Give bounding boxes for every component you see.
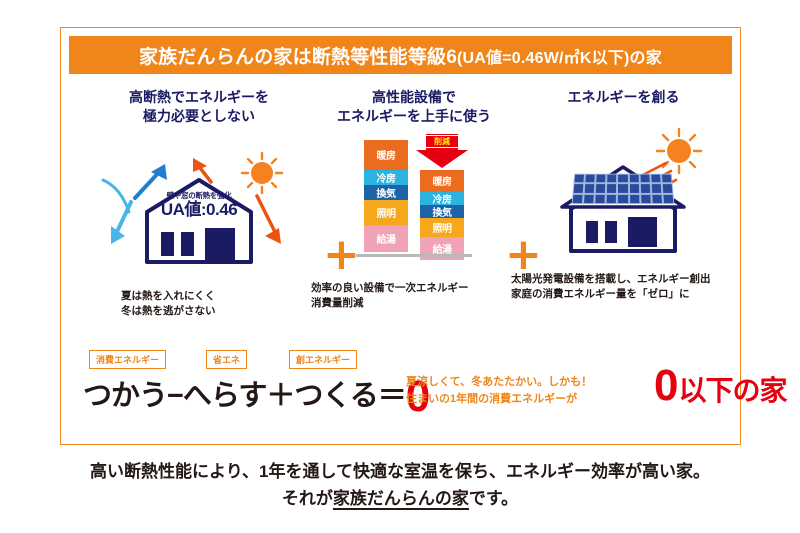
energy-equation: つかう−へらす＋つくる＝0	[83, 372, 429, 419]
equation-row: 消費エネルギー 省エネ 創エネルギー つかう−へらす＋つくる＝0 夏涼しくて、冬…	[61, 350, 742, 420]
header-title-main: 家族だんらんの家は断熱等性能等級6	[139, 47, 457, 68]
segment-ventilation-before: 換気	[364, 185, 408, 200]
segment-cooling-before: 冷房	[364, 170, 408, 185]
infographic-frame: 家族だんらんの家は断熱等性能等級6(UA値=0.46W/㎡K以下)の家 + + …	[60, 27, 741, 445]
reduction-label: 削減	[425, 135, 459, 148]
segment-heating-after: 暖房	[420, 170, 464, 192]
energy-bar-chart: 暖房 冷房 換気 照明 給湯 暖房 冷房 換気 照明 給湯	[334, 132, 494, 267]
tag-saving-energy: 省エネ	[206, 350, 247, 369]
equation-text: つかう−へらす＋つくる＝	[83, 380, 406, 412]
header-title-sub: (UA値=0.46W/㎡K以下)の家	[457, 50, 662, 67]
segment-ventilation-after: 換気	[420, 205, 464, 218]
pillar-insulation: 高断熱でエネルギーを 極力必要としない	[79, 88, 319, 319]
bar-before: 暖房 冷房 換気 照明 給湯	[364, 140, 408, 252]
bar-after: 暖房 冷房 換気 照明 給湯	[420, 170, 464, 260]
energy-bars: 暖房 冷房 換気 照明 給湯 暖房 冷房 換気 照明 給湯	[334, 132, 494, 267]
solar-house-illustration	[516, 123, 731, 258]
pillar-efficiency: 高性能設備で エネルギーを上手に使う 暖房 冷房 換気 照明 給湯 暖房	[319, 88, 509, 311]
header-banner: 家族だんらんの家は断熱等性能等級6(UA値=0.46W/㎡K以下)の家	[69, 36, 732, 74]
bottom-line2-pre: それが	[282, 489, 333, 508]
zero-big-number: 0	[654, 361, 678, 410]
insulated-house-illustration: 壁や窓の断熱を強化 UA値:0.46	[99, 140, 299, 275]
pillar-generation: エネルギーを創る	[511, 88, 736, 302]
segment-lighting-before: 照明	[364, 200, 408, 225]
segment-lighting-after: 照明	[420, 218, 464, 237]
tag-created-energy: 創エネルギー	[289, 350, 357, 369]
zero-suffix: 以下の家	[678, 375, 786, 406]
bottom-line-1: 高い断熱性能により、1年を通して快適な室温を保ち、エネルギー効率が高い家。	[0, 458, 800, 485]
bottom-line2-post: です。	[469, 489, 518, 508]
baseline	[356, 254, 472, 257]
reduction-arrow: 削減	[416, 134, 468, 168]
segment-heating-before: 暖房	[364, 140, 408, 170]
pillar-insulation-caption: 夏は熱を入れにくく 冬は熱を逃がさない	[121, 289, 319, 319]
header-title: 家族だんらんの家は断熱等性能等級6(UA値=0.46W/㎡K以下)の家	[139, 42, 662, 69]
tag-consumed-energy: 消費エネルギー	[89, 350, 166, 369]
house-label-ua: UA値:0.46	[99, 201, 299, 219]
sun-icon	[242, 153, 282, 193]
zero-or-less-house: 0以下の家	[654, 364, 787, 408]
bottom-line-2: それが家族だんらんの家です。	[0, 485, 800, 512]
solar-panel-grid	[572, 174, 675, 204]
equation-note: 夏涼しくて、冬あたたかい。しかも！ 住まいの1年間の消費エネルギーが	[406, 374, 592, 407]
pillar-insulation-heading: 高断熱でエネルギーを 極力必要としない	[79, 88, 319, 126]
pillar-efficiency-caption: 効率の良い設備で一次エネルギー 消費量削減	[311, 281, 511, 311]
sun-icon	[657, 129, 701, 173]
pillar-generation-caption: 太陽光発電設備を搭載し、エネルギー創出 家庭の消費エネルギー量を「ゼロ」に	[511, 272, 741, 302]
pillar-efficiency-heading: 高性能設備で エネルギーを上手に使う	[319, 88, 509, 126]
bottom-summary: 高い断熱性能により、1年を通して快適な室温を保ち、エネルギー効率が高い家。 それ…	[0, 458, 800, 512]
ua-value-block: 壁や窓の断熱を強化 UA値:0.46	[99, 190, 299, 219]
three-pillars: + + 高断熱でエネルギーを 極力必要としない	[61, 88, 742, 353]
segment-hotwater-before: 給湯	[364, 225, 408, 252]
brand-name: 家族だんらんの家	[333, 489, 469, 510]
pillar-generation-heading: エネルギーを創る	[511, 88, 736, 107]
